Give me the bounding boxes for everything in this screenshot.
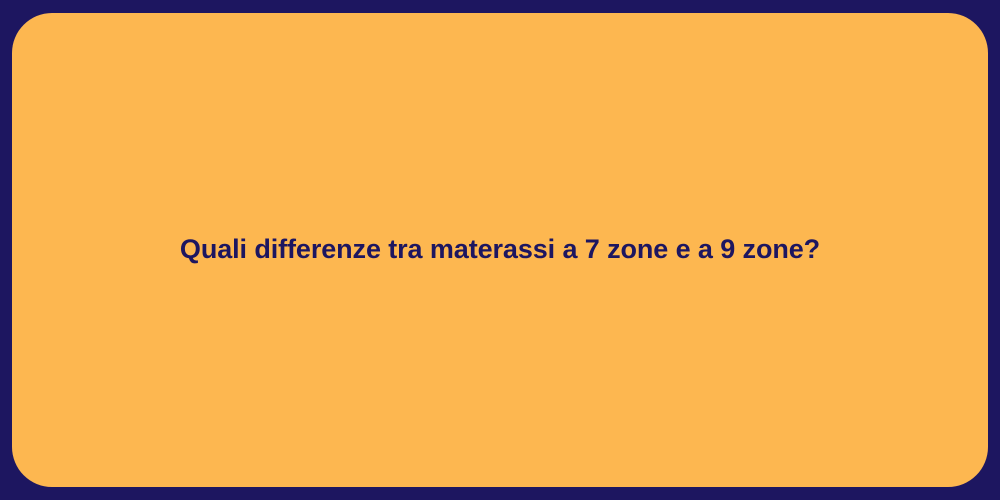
headline-container: Quali differenze tra materassi a 7 zone …: [12, 233, 988, 267]
banner-headline: Quali differenze tra materassi a 7 zone …: [180, 233, 820, 267]
banner-root: Quali differenze tra materassi a 7 zone …: [0, 0, 1000, 500]
banner-card-panel: Quali differenze tra materassi a 7 zone …: [12, 13, 988, 487]
